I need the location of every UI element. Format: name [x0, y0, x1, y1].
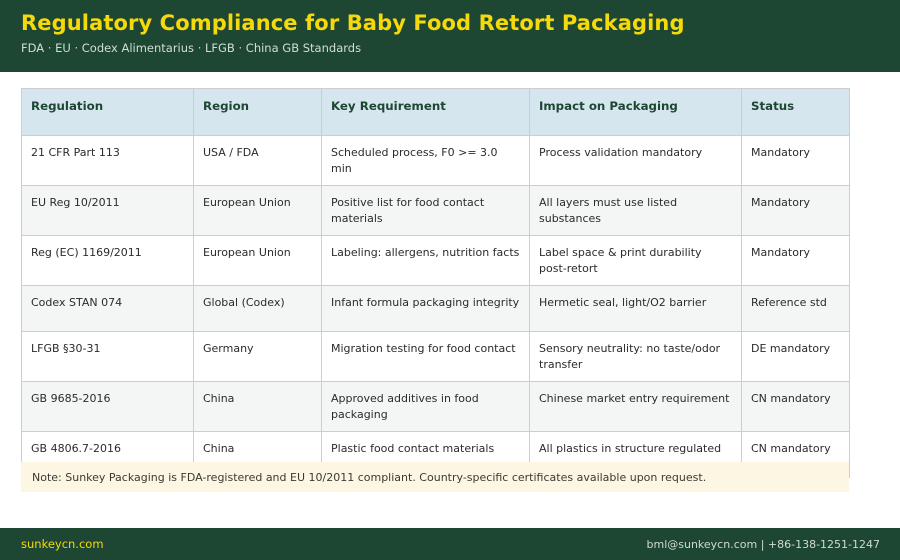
cell-regulation: Codex STAN 074 — [22, 286, 194, 332]
page-header: Regulatory Compliance for Baby Food Reto… — [0, 0, 900, 72]
cell-region: Germany — [194, 332, 322, 382]
table-body: 21 CFR Part 113 USA / FDA Scheduled proc… — [22, 136, 850, 478]
page-subtitle: FDA · EU · Codex Alimentarius · LFGB · C… — [21, 41, 900, 56]
cell-region: European Union — [194, 186, 322, 236]
compliance-table-container: Regulation Region Key Requirement Impact… — [21, 88, 849, 478]
compliance-table: Regulation Region Key Requirement Impact… — [21, 88, 850, 478]
cell-impact: Label space & print durability post-reto… — [530, 236, 742, 286]
footer-website-link[interactable]: sunkeycn.com — [21, 537, 104, 551]
cell-key-requirement: Infant formula packaging integrity — [322, 286, 530, 332]
cell-key-requirement: Scheduled process, F0 >= 3.0 min — [322, 136, 530, 186]
cell-regulation: 21 CFR Part 113 — [22, 136, 194, 186]
table-row: EU Reg 10/2011 European Union Positive l… — [22, 186, 850, 236]
status-badge: Mandatory — [742, 136, 850, 186]
cell-impact: Chinese market entry requirement — [530, 382, 742, 432]
column-header-regulation: Regulation — [22, 89, 194, 136]
table-header-row: Regulation Region Key Requirement Impact… — [22, 89, 850, 136]
table-row: 21 CFR Part 113 USA / FDA Scheduled proc… — [22, 136, 850, 186]
cell-region: USA / FDA — [194, 136, 322, 186]
column-header-status: Status — [742, 89, 850, 136]
cell-impact: Sensory neutrality: no taste/odor transf… — [530, 332, 742, 382]
page-title: Regulatory Compliance for Baby Food Reto… — [21, 9, 900, 37]
column-header-impact: Impact on Packaging — [530, 89, 742, 136]
cell-region: European Union — [194, 236, 322, 286]
cell-key-requirement: Approved additives in food packaging — [322, 382, 530, 432]
status-badge: Mandatory — [742, 186, 850, 236]
table-row: LFGB §30-31 Germany Migration testing fo… — [22, 332, 850, 382]
status-badge: Mandatory — [742, 236, 850, 286]
cell-key-requirement: Labeling: allergens, nutrition facts — [322, 236, 530, 286]
footer-contact-info[interactable]: bml@sunkeycn.com | +86-138-1251-1247 — [647, 538, 881, 551]
cell-impact: All layers must use listed substances — [530, 186, 742, 236]
footnote-text: Note: Sunkey Packaging is FDA-registered… — [32, 470, 706, 485]
cell-key-requirement: Positive list for food contact materials — [322, 186, 530, 236]
status-badge: CN mandatory — [742, 382, 850, 432]
status-badge: DE mandatory — [742, 332, 850, 382]
cell-regulation: Reg (EC) 1169/2011 — [22, 236, 194, 286]
page-footer: sunkeycn.com bml@sunkeycn.com | +86-138-… — [0, 528, 900, 560]
cell-regulation: EU Reg 10/2011 — [22, 186, 194, 236]
cell-regulation: GB 9685-2016 — [22, 382, 194, 432]
column-header-region: Region — [194, 89, 322, 136]
cell-impact: Process validation mandatory — [530, 136, 742, 186]
footnote-band: Note: Sunkey Packaging is FDA-registered… — [21, 462, 849, 492]
table-row: GB 9685-2016 China Approved additives in… — [22, 382, 850, 432]
cell-impact: Hermetic seal, light/O2 barrier — [530, 286, 742, 332]
status-badge: Reference std — [742, 286, 850, 332]
table-row: Reg (EC) 1169/2011 European Union Labeli… — [22, 236, 850, 286]
cell-region: China — [194, 382, 322, 432]
column-header-key-requirement: Key Requirement — [322, 89, 530, 136]
cell-key-requirement: Migration testing for food contact — [322, 332, 530, 382]
table-row: Codex STAN 074 Global (Codex) Infant for… — [22, 286, 850, 332]
cell-region: Global (Codex) — [194, 286, 322, 332]
cell-regulation: LFGB §30-31 — [22, 332, 194, 382]
